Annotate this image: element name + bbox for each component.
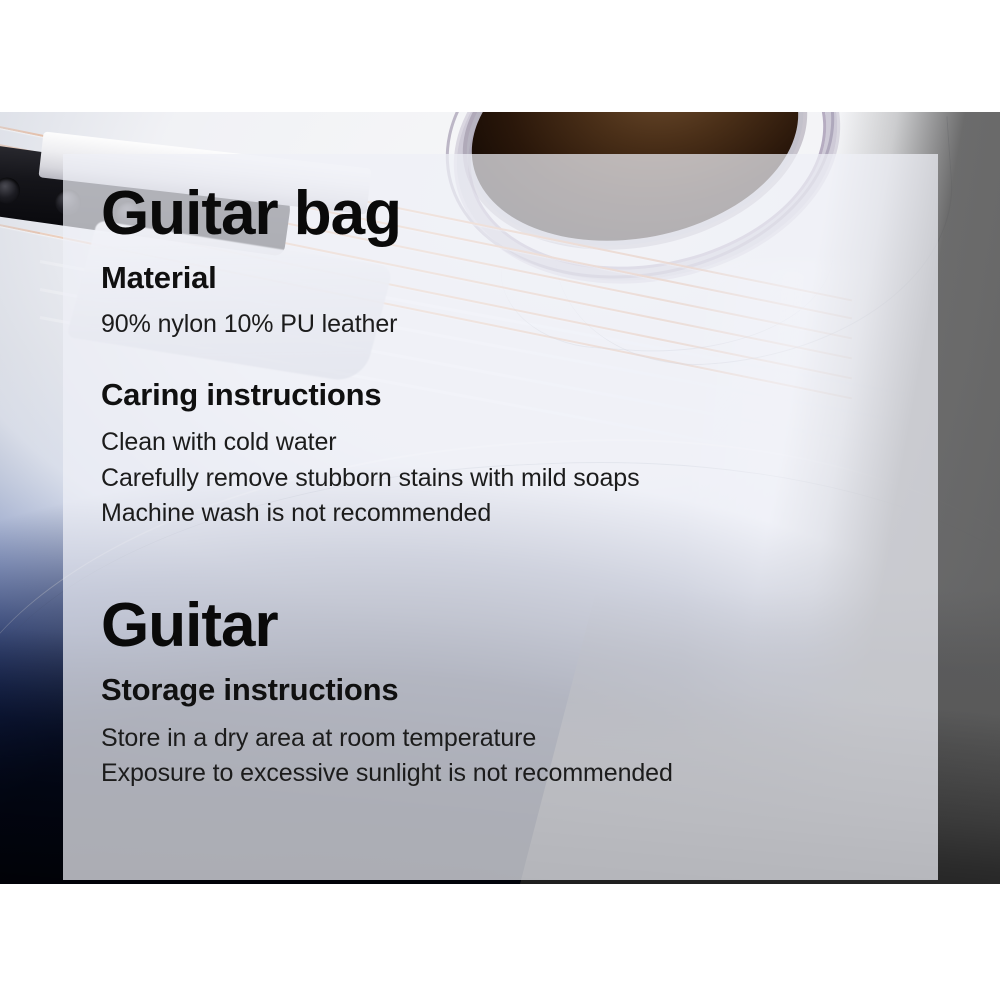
heading-storage-instructions: Storage instructions (101, 672, 938, 709)
bottom-white-border (0, 884, 1000, 1000)
section-title-guitar-bag: Guitar bag (101, 182, 938, 246)
heading-material: Material (101, 260, 938, 297)
caring-line: Machine wash is not recommended (101, 496, 938, 532)
heading-caring-instructions: Caring instructions (101, 377, 938, 414)
storage-line: Exposure to excessive sunlight is not re… (101, 756, 938, 792)
storage-line: Store in a dry area at room temperature (101, 721, 938, 757)
caring-line: Carefully remove stubborn stains with mi… (101, 461, 938, 497)
section-title-guitar: Guitar (101, 594, 938, 658)
top-white-border (0, 0, 1000, 112)
info-panel: Guitar bag Material 90% nylon 10% PU lea… (63, 154, 938, 880)
material-line: 90% nylon 10% PU leather (101, 307, 938, 343)
caring-line: Clean with cold water (101, 425, 938, 461)
product-info-card: Guitar bag Material 90% nylon 10% PU lea… (0, 0, 1000, 1000)
